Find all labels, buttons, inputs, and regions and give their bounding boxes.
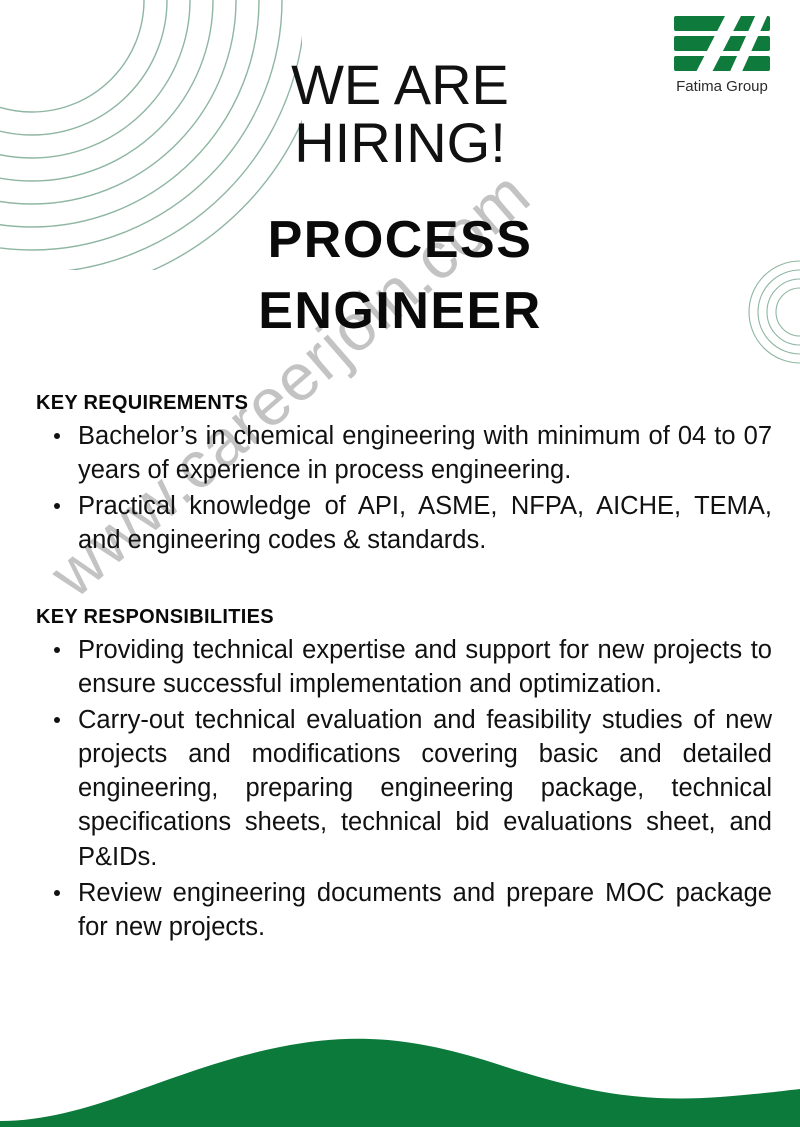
list-item: Carry-out technical evaluation and feasi… (36, 703, 772, 874)
requirements-list: Bachelor’s in chemical engineering with … (36, 419, 772, 558)
section-heading-requirements: KEY REQUIREMENTS (36, 392, 772, 415)
section-key-requirements: KEY REQUIREMENTS Bachelor’s in chemical … (36, 392, 772, 558)
job-title: PROCESS ENGINEER (0, 205, 800, 346)
headline-line-2: HIRING! (0, 114, 800, 172)
job-posting-poster: Fatima Group www.careerjoin.com WE ARE H… (0, 0, 800, 1127)
section-heading-responsibilities: KEY RESPONSIBILITIES (36, 606, 772, 629)
list-item: Bachelor’s in chemical engineering with … (36, 419, 772, 487)
section-key-responsibilities: KEY RESPONSIBILITIES Providing technical… (36, 606, 772, 944)
list-item: Review engineering documents and prepare… (36, 876, 772, 944)
job-title-line-1: PROCESS (0, 205, 800, 276)
green-wave-decoration-icon (0, 1017, 800, 1127)
section-divider-space (36, 572, 772, 606)
page-title: WE ARE HIRING! (0, 56, 800, 172)
headline-line-1: WE ARE (0, 56, 800, 114)
list-item: Providing technical expertise and suppor… (36, 633, 772, 701)
responsibilities-list: Providing technical expertise and suppor… (36, 633, 772, 944)
list-item: Practical knowledge of API, ASME, NFPA, … (36, 489, 772, 557)
job-details: KEY REQUIREMENTS Bachelor’s in chemical … (36, 392, 772, 958)
job-title-line-2: ENGINEER (0, 276, 800, 347)
